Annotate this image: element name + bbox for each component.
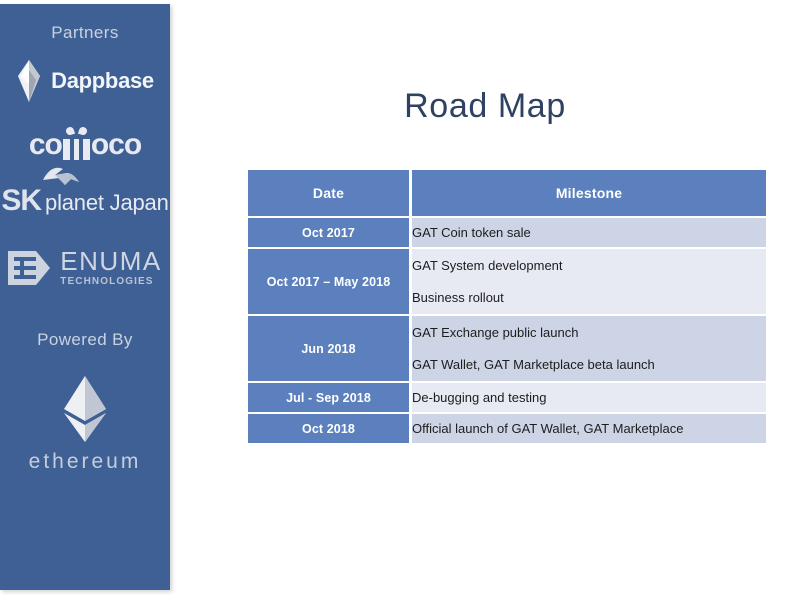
milestone-line: Official launch of GAT Wallet, GAT Marke…: [412, 422, 766, 436]
cell-date: Oct 2017: [248, 218, 412, 249]
table-row: Oct 2017 – May 2018 GAT System developme…: [248, 249, 766, 316]
powered-by-name-ethereum: ethereum: [29, 450, 142, 474]
page-title: Road Map: [170, 87, 800, 126]
roadmap-table: Date Milestone Oct 2017 GAT Coin token s…: [248, 170, 766, 443]
partner-logo-dappbase: Dappbase: [0, 60, 170, 102]
coffoco-gift-icon: [63, 130, 90, 160]
sk-planet-bird-icon: [41, 166, 81, 190]
milestone-line: GAT Wallet, GAT Marketplace beta launch: [412, 358, 766, 372]
cell-milestone: Official launch of GAT Wallet, GAT Marke…: [412, 414, 766, 443]
cell-date: Oct 2017 – May 2018: [248, 249, 412, 316]
powered-by-heading: Powered By: [0, 330, 170, 350]
partner-logo-enuma: ENUMA TECHNOLOGIES: [0, 248, 170, 287]
milestone-line: GAT Coin token sale: [412, 226, 766, 240]
ethereum-diamond-icon: [63, 376, 107, 442]
cell-date: Oct 2018: [248, 414, 412, 443]
partner-name-enuma: ENUMA: [60, 248, 161, 274]
cell-milestone: GAT Coin token sale: [412, 218, 766, 249]
column-header-milestone: Milestone: [412, 170, 766, 218]
sk-planet-japan-text: planet Japan: [45, 192, 169, 214]
coffoco-suffix: oco: [91, 130, 141, 160]
coffoco-wordmark: co oco: [29, 130, 141, 160]
powered-by-logo-ethereum: ethereum: [0, 376, 170, 474]
partner-subtitle-enuma: TECHNOLOGIES: [60, 277, 161, 287]
cell-date: Jul - Sep 2018: [248, 383, 412, 414]
partner-name-dappbase: Dappbase: [51, 68, 154, 94]
sk-mark-text: SK: [1, 186, 41, 216]
enuma-arrow-icon: [8, 251, 50, 285]
slide-main-area: Road Map Date Milestone Oct 2017 GAT Coi…: [170, 0, 800, 601]
milestone-line: GAT System development: [412, 259, 766, 273]
partner-logo-coffoco: co oco coffoco: [0, 130, 170, 160]
table-row: Jul - Sep 2018 De-bugging and testing: [248, 383, 766, 414]
partners-sidebar: Partners Dappbase co: [0, 4, 170, 590]
cell-milestone: GAT System development Business rollout: [412, 249, 766, 316]
milestone-line: GAT Exchange public launch: [412, 326, 766, 340]
milestone-line: De-bugging and testing: [412, 391, 766, 405]
partners-heading: Partners: [0, 23, 170, 43]
milestone-line: Business rollout: [412, 291, 766, 305]
partner-logo-sk-planet-japan: SK planet Japan: [0, 186, 170, 216]
coffoco-prefix: co: [29, 130, 62, 160]
cell-milestone: GAT Exchange public launch GAT Wallet, G…: [412, 316, 766, 383]
roadmap-slide: Partners Dappbase co: [0, 0, 800, 601]
table-row: Jun 2018 GAT Exchange public launch GAT …: [248, 316, 766, 383]
column-header-date: Date: [248, 170, 412, 218]
cell-milestone: De-bugging and testing: [412, 383, 766, 414]
table-row: Oct 2018 Official launch of GAT Wallet, …: [248, 414, 766, 443]
dappbase-crystal-icon: [16, 60, 42, 102]
table-header-row: Date Milestone: [248, 170, 766, 218]
cell-date: Jun 2018: [248, 316, 412, 383]
table-row: Oct 2017 GAT Coin token sale: [248, 218, 766, 249]
